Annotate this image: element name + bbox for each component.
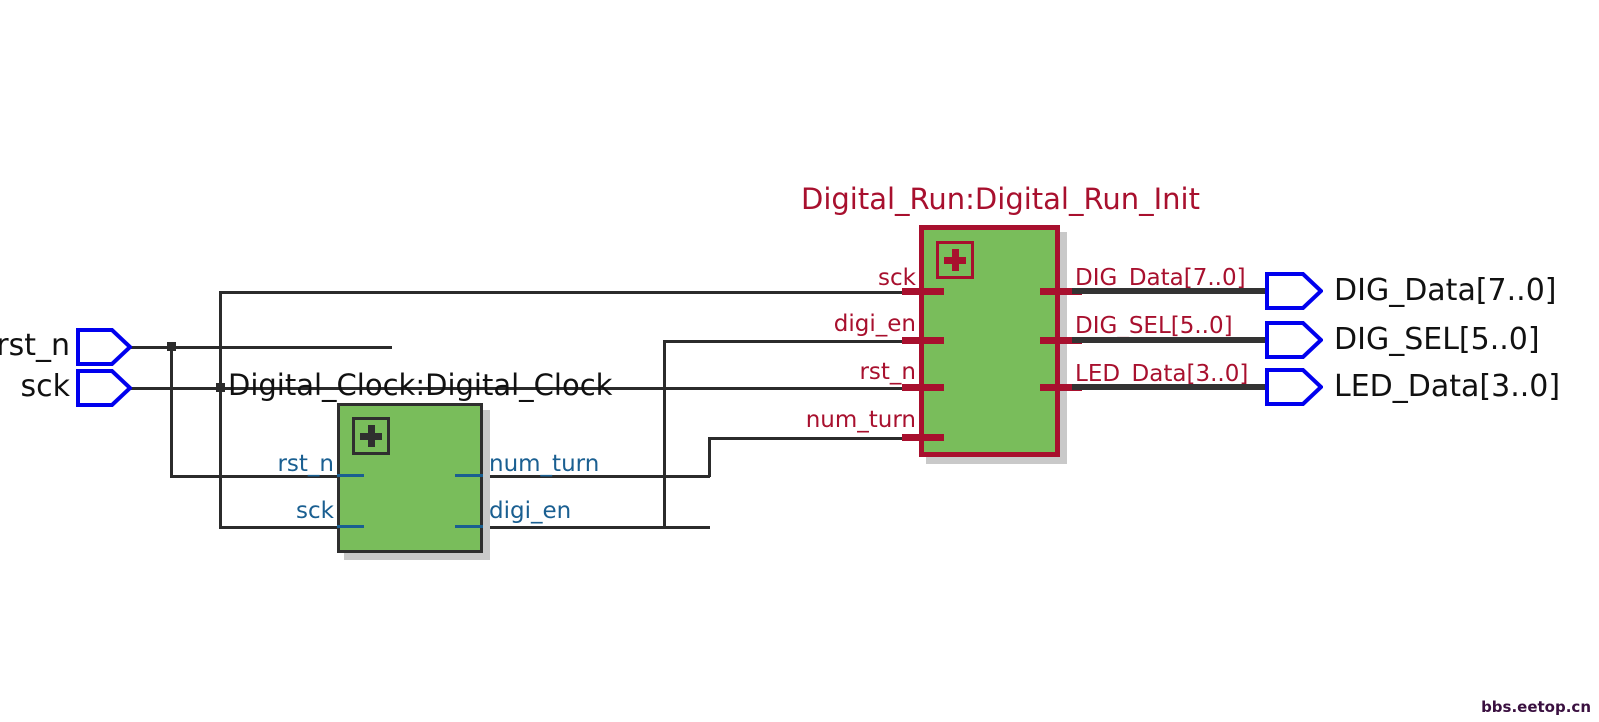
block-body [337,403,483,553]
run-port-DIG_Data-label: DIG_Data[7..0] [1075,267,1246,290]
digital-clock-block[interactable] [337,403,483,553]
run-port-sck-label: sck [878,267,916,290]
output-pin-led-data[interactable] [1265,368,1323,406]
bus-dig-data [1072,288,1267,294]
wire-rstn-down [170,346,173,478]
clock-port-sck-stub [337,525,364,528]
run-port-sck-stub [902,288,944,295]
run-port-rst_n-stub [902,384,944,391]
schematic-canvas: Digital_Clock:Digital_Clock rst_n sck nu… [0,0,1599,722]
clock-port-digi_en-label: digi_en [489,500,571,523]
wire-digien-b [663,340,933,343]
wire-numturn-b [708,437,933,440]
output-pin-dig-data[interactable] [1265,272,1323,310]
output-pin-dig-sel[interactable] [1265,321,1323,359]
wire-sck-vertical [219,291,222,529]
input-label-rst_n: rst_n [0,331,70,361]
input-pin-rst_n[interactable] [76,328,132,366]
run-port-DIG_SEL-label: DIG_SEL[5..0] [1075,315,1233,338]
digital-clock-title: Digital_Clock:Digital_Clock [228,371,612,400]
bus-led-data [1072,384,1267,390]
output-label-led-data: LED_Data[3..0] [1334,372,1560,402]
run-port-digi_en-label: digi_en [834,313,916,336]
clock-port-sck-label: sck [296,500,334,523]
plus-icon[interactable] [936,241,974,279]
clock-port-num_turn-label: num_turn [489,453,599,476]
bus-dig-sel [1072,337,1267,343]
run-port-num_turn-label: num_turn [806,409,916,432]
run-port-num_turn-stub [902,434,944,441]
digital-run-title: Digital_Run:Digital_Run_Init [801,185,1200,214]
wire-numturn-v [708,437,711,477]
clock-port-rst_n-label: rst_n [277,453,334,476]
run-port-LED_Data-label: LED_Data[3..0] [1075,363,1248,386]
input-pin-sck[interactable] [76,369,132,407]
output-label-dig-data: DIG_Data[7..0] [1334,276,1556,306]
wire-digien-a [480,526,710,529]
wire-sck-top-rail [219,291,933,294]
wire-digien-v [663,340,666,529]
clock-port-rst_n-stub [337,474,364,477]
run-port-digi_en-stub [902,337,944,344]
clock-port-digi_en-stub [455,525,483,528]
watermark: bbs.eetop.cn [1481,698,1591,716]
wire-sck-to-clock [219,526,341,529]
run-port-rst_n-label: rst_n [859,361,916,384]
plus-icon[interactable] [352,417,390,455]
clock-port-num_turn-stub [455,474,483,477]
input-label-sck: sck [21,372,71,402]
wire-sck-pin-out [130,387,225,390]
output-label-dig-sel: DIG_SEL[5..0] [1334,325,1540,355]
